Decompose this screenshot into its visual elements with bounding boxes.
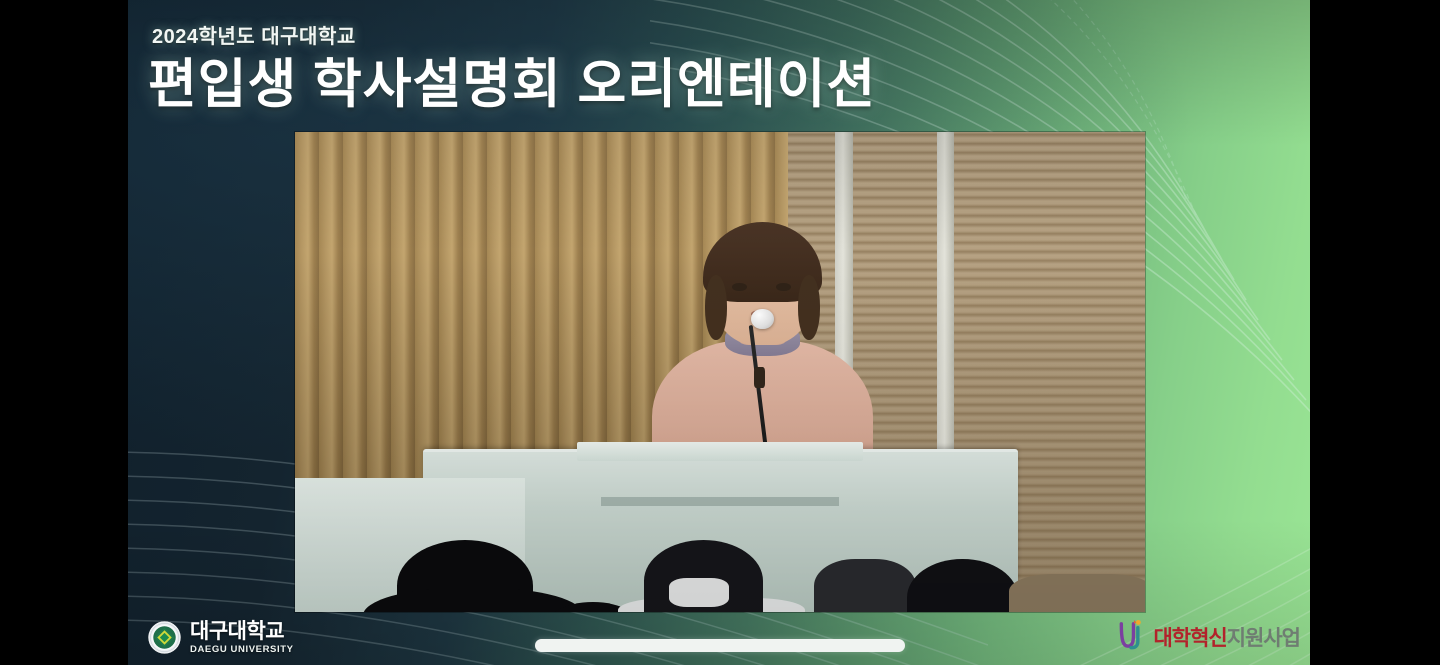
presenter-hair-left: [705, 275, 727, 340]
letterbox-bar-right: [1310, 0, 1440, 665]
daegu-university-emblem-icon: [148, 621, 181, 654]
video-scene: [295, 132, 1145, 612]
innovation-wordmark: 대학혁신지원사업: [1153, 622, 1300, 652]
video-still-frame[interactable]: [295, 132, 1145, 612]
video-progress-fill[interactable]: [535, 639, 905, 652]
microphone-clip: [754, 367, 765, 389]
daegu-university-logo: 대구대학교 DAEGU UNIVERSITY: [148, 621, 294, 655]
daegu-university-korean-name: 대구대학교: [190, 621, 294, 642]
innovation-label-primary: 대학혁신: [1153, 627, 1226, 650]
university-innovation-support-logo: 대학혁신지원사업: [1116, 618, 1300, 652]
presenter-hair-right: [798, 275, 820, 340]
presentation-slide: 2024학년도 대구대학교 편입생 학사설명회 오리엔테이션: [128, 0, 1310, 665]
video-player-stage: 2024학년도 대구대학교 편입생 학사설명회 오리엔테이션: [0, 0, 1440, 665]
letterbox-bar-left: [0, 0, 128, 665]
slide-title: 편입생 학사설명회 오리엔테이션: [148, 56, 876, 113]
video-progress-bar[interactable]: [535, 639, 905, 652]
microphone-head-icon: [751, 309, 773, 329]
slide-subtitle: 2024학년도 대구대학교: [152, 20, 876, 49]
slide-title-block: 2024학년도 대구대학교 편입생 학사설명회 오리엔테이션: [148, 20, 876, 113]
audience-chair: [814, 559, 916, 612]
uj-innovation-mark-icon: [1116, 618, 1148, 652]
audience-jacket: [1009, 574, 1145, 612]
podium-top-ledge: [577, 442, 863, 461]
daegu-university-english-name: DAEGU UNIVERSITY: [190, 645, 294, 655]
daegu-university-wordmark: 대구대학교 DAEGU UNIVERSITY: [190, 621, 294, 655]
podium-shelf: [601, 497, 839, 507]
innovation-label-secondary: 지원사업: [1227, 627, 1300, 650]
audience-face-mask: [669, 578, 729, 607]
